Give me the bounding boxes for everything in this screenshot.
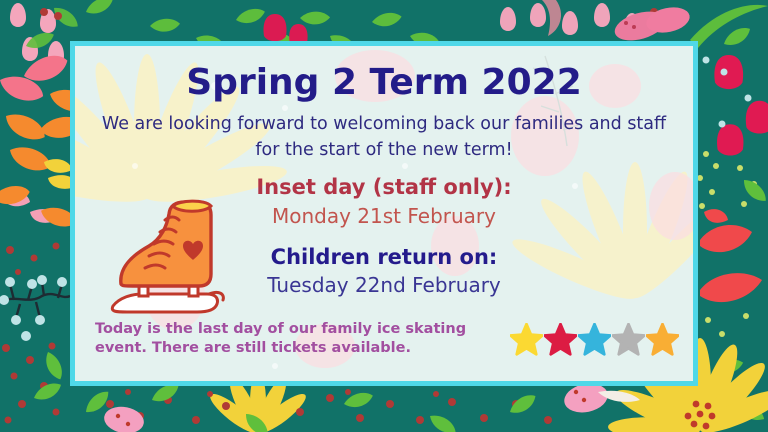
footer-line-1: Today is the last day of our family ice … [95, 320, 466, 340]
footer-note: Today is the last day of our family ice … [95, 320, 466, 359]
children-return-date: Tuesday 22nd February [267, 272, 501, 298]
star-crimson [544, 323, 577, 356]
intro-line-2: for the start of the new term! [84, 138, 684, 163]
intro-line-1: We are looking forward to welcoming back… [84, 112, 684, 137]
star-yellow [510, 323, 543, 356]
star-blue [578, 323, 611, 356]
page-title: Spring 2 Term 2022 [186, 62, 582, 104]
star-orange [646, 323, 679, 356]
footer-row: Today is the last day of our family ice … [95, 320, 679, 359]
poster-canvas: Spring 2 Term 2022 We are looking forwar… [0, 0, 768, 432]
children-return-heading: Children return on: [267, 244, 501, 271]
children-return-block: Children return on: Tuesday 22nd Februar… [267, 229, 501, 298]
announcement-card: Spring 2 Term 2022 We are looking forwar… [70, 41, 698, 386]
star-grey [612, 323, 645, 356]
inset-day-heading: Inset day (staff only): [256, 174, 511, 201]
footer-line-2: event. There are still tickets available… [95, 339, 466, 359]
star-rating [510, 323, 679, 356]
intro-text: We are looking forward to welcoming back… [84, 112, 684, 163]
ice-skate-icon [97, 194, 227, 319]
inset-day-date: Monday 21st February [256, 203, 511, 229]
inset-day-block: Inset day (staff only): Monday 21st Febr… [256, 163, 511, 228]
